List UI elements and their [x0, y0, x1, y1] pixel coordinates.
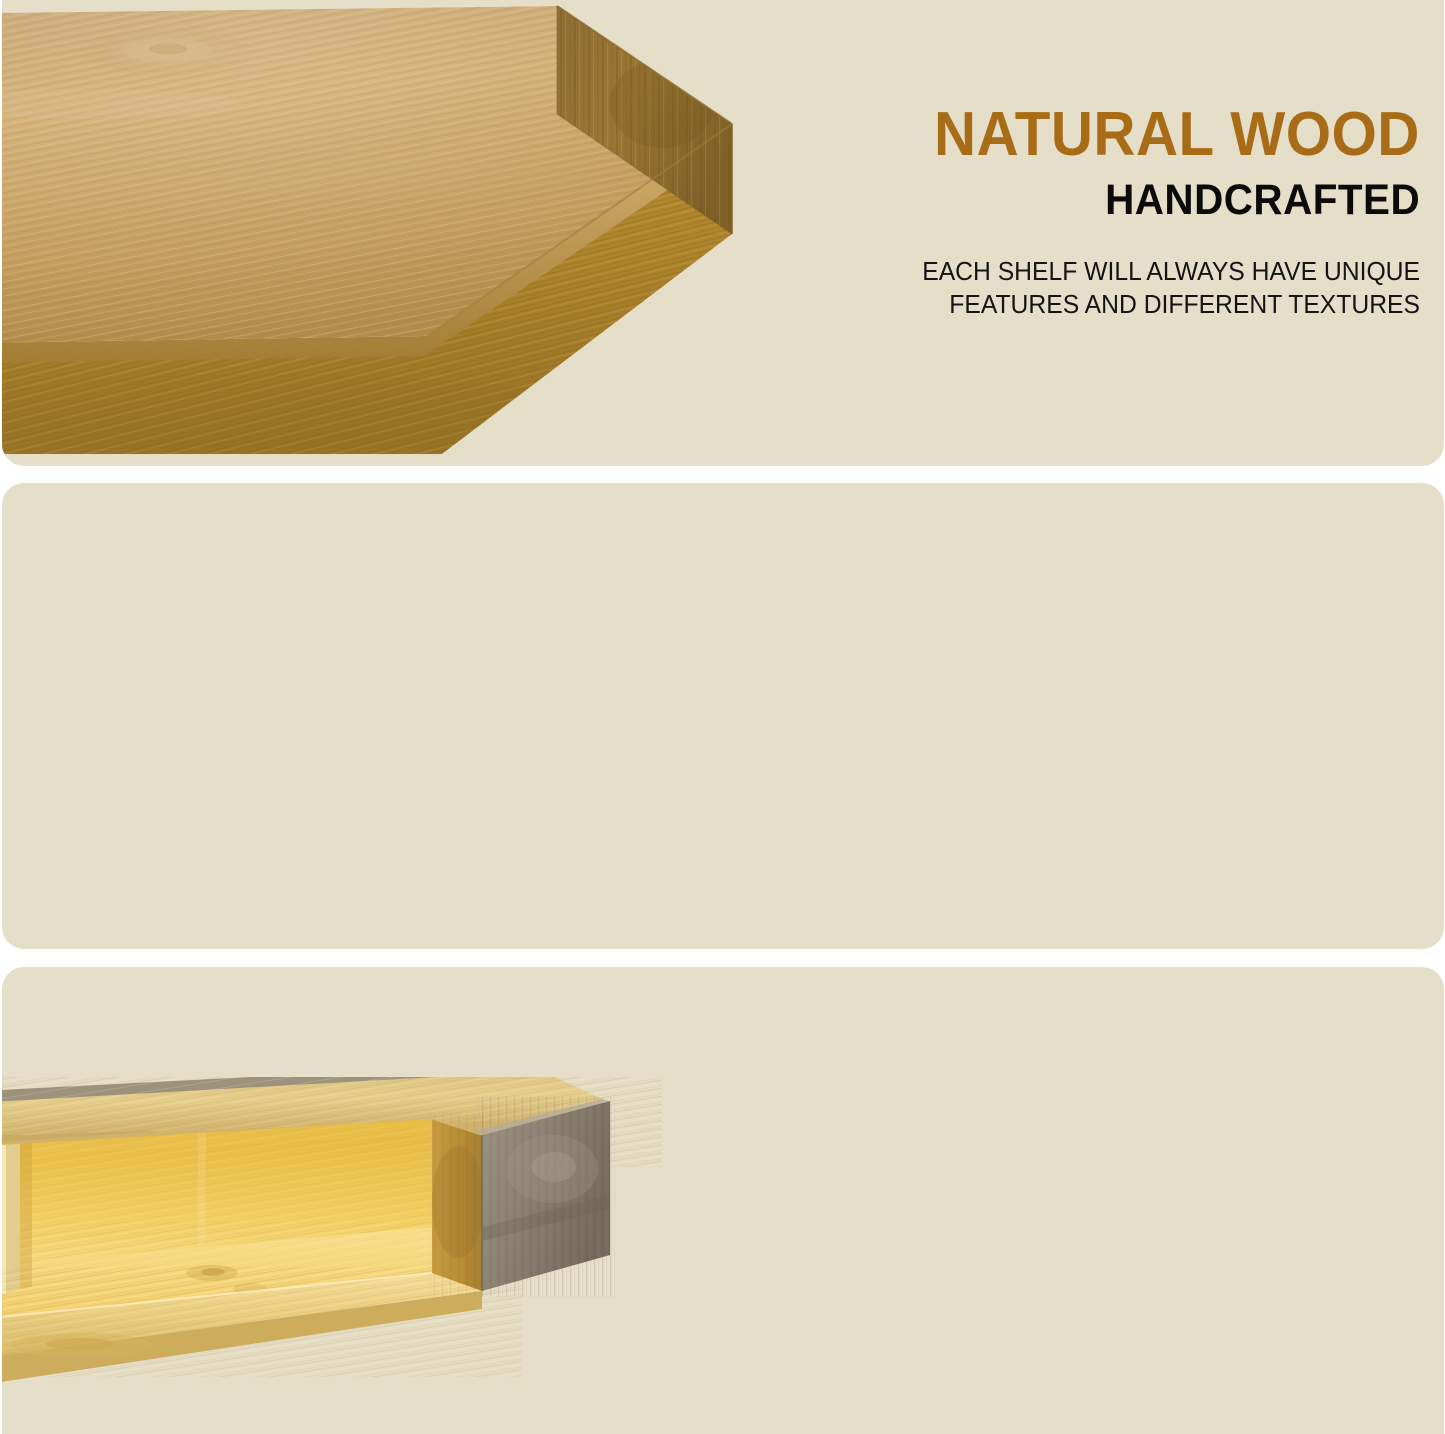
wood-plank-photo: [2, 0, 852, 454]
panel-natural-wood: NATURAL WOOD HANDCRAFTED EACH SHELF WILL…: [2, 0, 1444, 466]
panel-subtitle-handcrafted: HANDCRAFTED: [1105, 179, 1420, 222]
panel-multi-point-support: MULTI-POINT SUPPORT DESIGN EVENLY DISTRI…: [2, 483, 1444, 949]
shelf-end-cap: [428, 1097, 618, 1297]
infographic-canvas: NATURAL WOOD HANDCRAFTED EACH SHELF WILL…: [0, 0, 1445, 1434]
panel-title-natural-wood: NATURAL WOOD: [934, 104, 1420, 166]
panel-stable-hidden-support: STABLE HIDDEN SUPPORT SEGMENTED INTERNAL…: [2, 967, 1444, 1434]
body-line: FEATURES AND DIFFERENT TEXTURES: [907, 288, 1420, 321]
body-line: EACH SHELF WILL ALWAYS HAVE UNIQUE: [907, 255, 1420, 288]
panel-body-natural-wood: EACH SHELF WILL ALWAYS HAVE UNIQUE FEATU…: [907, 255, 1420, 322]
hollow-shelf-photo: [2, 1077, 822, 1434]
